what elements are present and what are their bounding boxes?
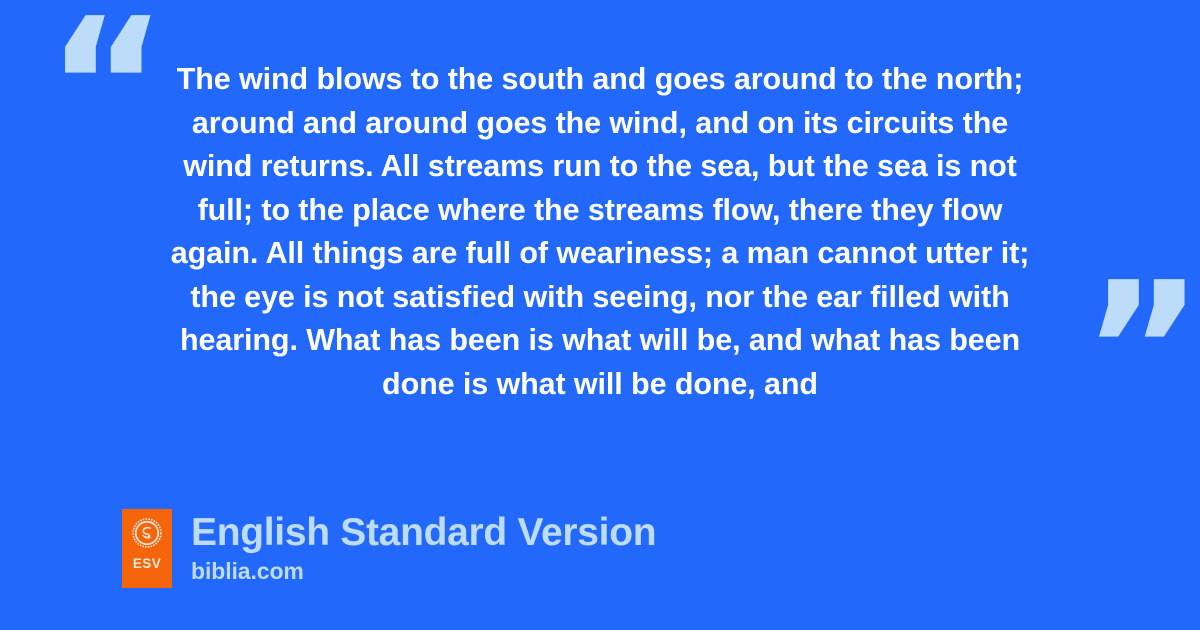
attribution-text: English Standard Version biblia.com xyxy=(191,509,656,588)
quote-line: again. All things are full of weariness;… xyxy=(110,232,1090,276)
site-name: biblia.com xyxy=(191,557,656,585)
bible-version-name: English Standard Version xyxy=(191,510,656,556)
esv-badge-label: ESV xyxy=(133,557,161,571)
quote-line: wind returns. All streams run to the sea… xyxy=(110,145,1090,189)
attribution: ESV English Standard Version biblia.com xyxy=(122,509,656,588)
bible-verse-quote-card: “ The wind blows to the south and goes a… xyxy=(0,0,1200,630)
esv-seal-icon xyxy=(132,518,162,548)
quote-line: done is what will be done, and xyxy=(110,363,1090,407)
quote-line: around and around goes the wind, and on … xyxy=(110,102,1090,146)
quote-text-block: The wind blows to the south and goes aro… xyxy=(110,58,1090,406)
esv-badge: ESV xyxy=(122,509,172,588)
quote-line: hearing. What has been is what will be, … xyxy=(110,319,1090,363)
quote-line: the eye is not satisfied with seeing, no… xyxy=(110,276,1090,320)
quote-line: The wind blows to the south and goes aro… xyxy=(110,58,1090,102)
close-quote-icon: ” xyxy=(1082,258,1200,443)
quote-line: full; to the place where the streams flo… xyxy=(110,189,1090,233)
